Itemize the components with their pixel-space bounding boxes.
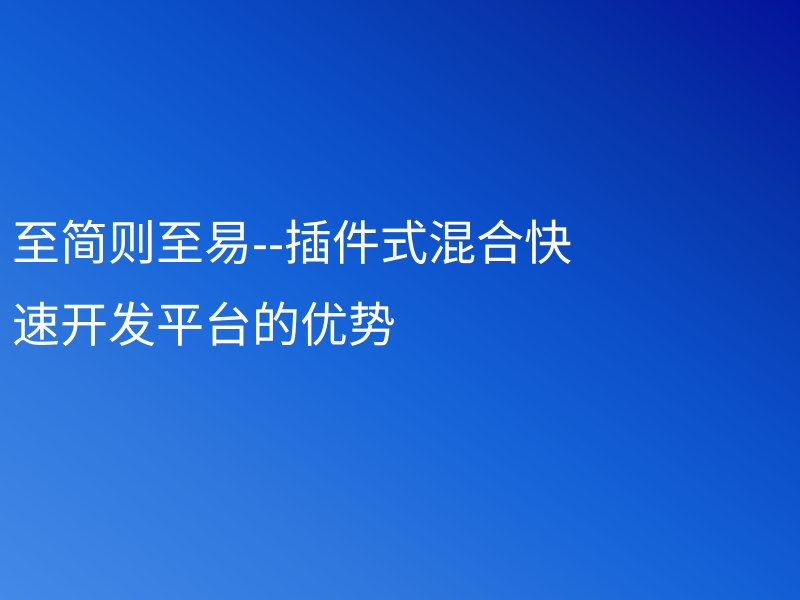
page-title-line-1: 至简则至易--插件式混合快 bbox=[12, 204, 788, 286]
title-banner: 至简则至易--插件式混合快 速开发平台的优势 bbox=[0, 0, 800, 600]
page-title: 至简则至易--插件式混合快 速开发平台的优势 bbox=[12, 204, 788, 368]
page-title-line-2: 速开发平台的优势 bbox=[12, 286, 788, 368]
